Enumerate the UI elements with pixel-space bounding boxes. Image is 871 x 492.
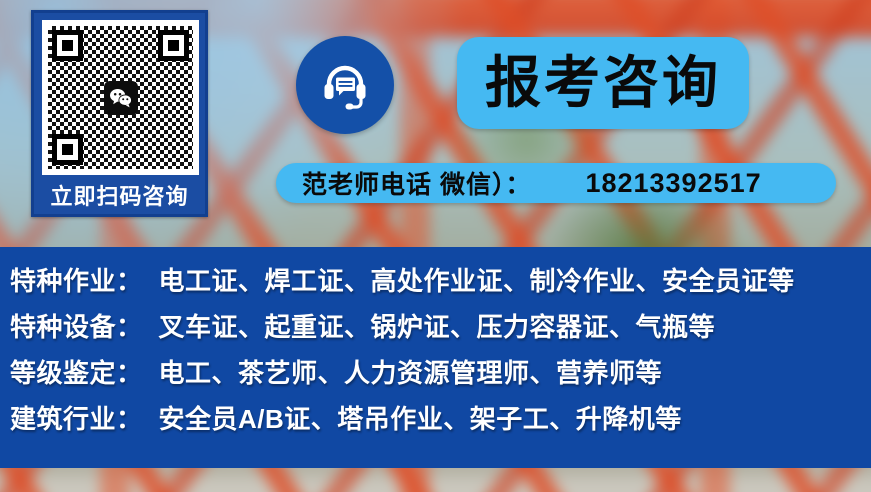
service-category-label: 等级鉴定：: [10, 353, 143, 390]
service-row: 等级鉴定： 电工、茶艺师、人力资源管理师、营养师等: [10, 353, 861, 399]
headset-support-icon: [296, 36, 394, 134]
service-row: 特种作业： 电工证、焊工证、高处作业证、制冷作业、安全员证等: [10, 261, 861, 307]
qr-modules: [48, 26, 193, 169]
service-list-panel: 特种作业： 电工证、焊工证、高处作业证、制冷作业、安全员证等 特种设备： 叉车证…: [0, 247, 871, 468]
service-items-label: 安全员A/B证、塔吊作业、架子工、升降机等: [159, 399, 682, 436]
title-pill-label: 报考咨询: [485, 55, 721, 111]
contact-phone-pill[interactable]: 范老师电话 微信）： 18213392517: [276, 163, 836, 203]
promo-banner: 立即扫码咨询 报考咨询 范老师电话 微信）： 18213392517 特种作业：…: [0, 0, 871, 492]
title-pill-registration-consult[interactable]: 报考咨询: [457, 37, 749, 129]
qr-card-label: 立即扫码咨询: [34, 186, 205, 208]
qr-finder-top-left: [52, 30, 83, 61]
service-category-label: 特种作业：: [10, 261, 143, 298]
service-items-label: 电工证、焊工证、高处作业证、制冷作业、安全员证等: [159, 261, 795, 298]
contact-phone-number[interactable]: 18213392517: [585, 168, 761, 199]
service-row: 特种设备： 叉车证、起重证、锅炉证、压力容器证、气瓶等: [10, 307, 861, 353]
qr-finder-top-right: [158, 30, 189, 61]
service-items-label: 叉车证、起重证、锅炉证、压力容器证、气瓶等: [159, 307, 716, 344]
service-items-label: 电工、茶艺师、人力资源管理师、营养师等: [159, 353, 663, 390]
wechat-logo-icon: [104, 81, 138, 115]
service-category-label: 建筑行业：: [10, 399, 143, 436]
qr-code-image[interactable]: [42, 20, 199, 175]
contact-label: 范老师电话 微信）：: [302, 165, 531, 201]
qr-finder-bottom-left: [52, 134, 83, 165]
qr-code-card[interactable]: 立即扫码咨询: [31, 10, 208, 217]
service-category-label: 特种设备：: [10, 307, 143, 344]
service-row: 建筑行业： 安全员A/B证、塔吊作业、架子工、升降机等: [10, 399, 861, 445]
